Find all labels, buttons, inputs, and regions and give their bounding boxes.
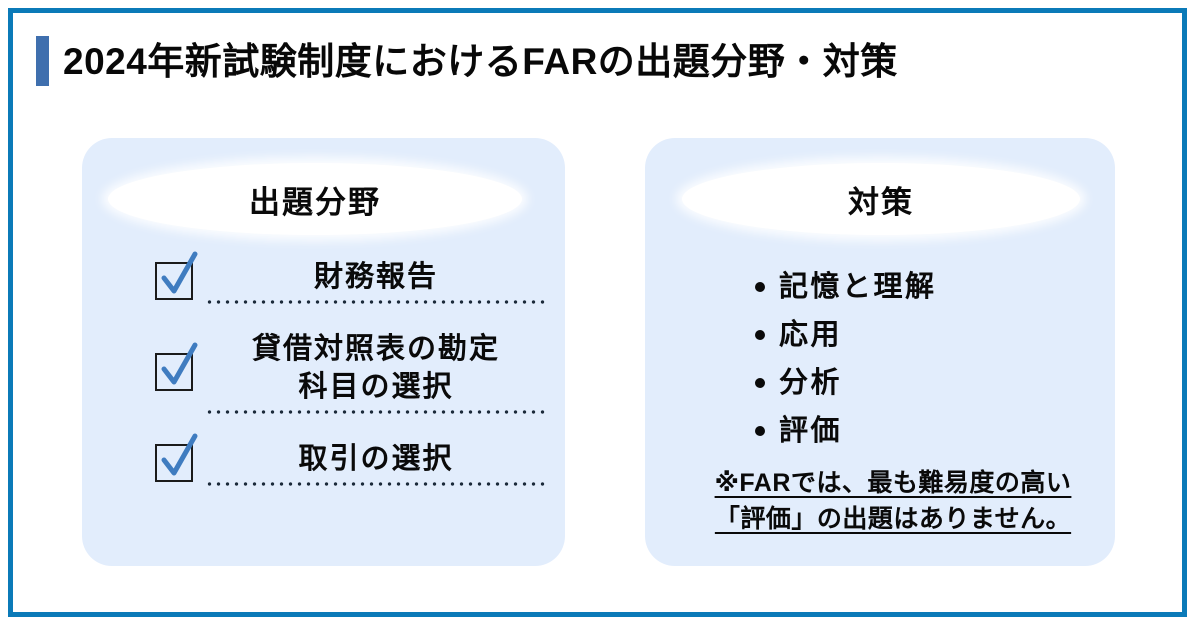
list-item[interactable]: 評価 <box>755 407 937 455</box>
checklist-item-label-line1: 貸借対照表の勘定 <box>252 330 500 368</box>
checkbox-checked-icon[interactable] <box>155 444 193 482</box>
checklist-item[interactable]: 取引の選択 <box>82 432 565 494</box>
measures-bullet-label: 記憶と理解 <box>779 273 937 302</box>
checklist-item-dotted-rule <box>205 410 547 414</box>
checklist-item-label: 財務報告 <box>314 258 438 296</box>
panel-exam-topics-heading: 出題分野 <box>249 177 381 222</box>
bullet-dot-icon <box>755 426 765 436</box>
checklist-item-label-line2: 科目の選択 <box>298 368 453 406</box>
infographic-canvas: 2024年新試験制度におけるFARの出題分野・対策 出題分野 財務報告 <box>0 0 1200 630</box>
list-item[interactable]: 応用 <box>755 311 937 359</box>
bullet-dot-icon <box>755 378 765 388</box>
checklist-item-dotted-rule <box>205 482 547 486</box>
bullet-dot-icon <box>755 282 765 292</box>
checklist-item[interactable]: 貸借対照表の勘定 科目の選択 <box>82 322 565 422</box>
panel-measures: 対策 記憶と理解 応用 分析 評価 ※FARでは、最も難易度の高い 「評価」の出… <box>645 138 1115 566</box>
measures-bullet-list: 記憶と理解 応用 分析 評価 <box>755 263 937 455</box>
measures-bullet-label: 評価 <box>779 417 842 446</box>
bullet-dot-icon <box>755 330 765 340</box>
panel-exam-topics-header: 出題分野 <box>108 163 522 235</box>
checklist-item-body: 財務報告 <box>205 258 547 304</box>
list-item[interactable]: 記憶と理解 <box>755 263 937 311</box>
checklist-item[interactable]: 財務報告 <box>82 250 565 312</box>
checklist-item-dotted-rule <box>205 300 547 304</box>
checkbox-checked-icon[interactable] <box>155 353 193 391</box>
page-title: 2024年新試験制度におけるFARの出題分野・対策 <box>63 43 898 80</box>
measures-bullet-label: 分析 <box>779 369 842 398</box>
checklist-item-label: 取引の選択 <box>298 440 453 478</box>
checklist-item-body: 取引の選択 <box>205 440 547 486</box>
panel-measures-heading: 対策 <box>848 177 914 222</box>
list-item[interactable]: 分析 <box>755 359 937 407</box>
title-accent-bar <box>36 36 49 86</box>
panel-exam-topics: 出題分野 財務報告 <box>82 138 565 566</box>
checklist-item-body: 貸借対照表の勘定 科目の選択 <box>205 330 547 415</box>
exam-topics-checklist: 財務報告 貸借対照表の勘定 科目の選択 <box>82 250 565 504</box>
panel-measures-header: 対策 <box>682 163 1080 235</box>
measures-note-line2: 「評価」の出題はありません。 <box>693 501 1093 537</box>
checkbox-checked-icon[interactable] <box>155 262 193 300</box>
measures-note-line1: ※FARでは、最も難易度の高い <box>693 465 1093 501</box>
measures-note: ※FARでは、最も難易度の高い 「評価」の出題はありません。 <box>693 465 1093 538</box>
page-title-row: 2024年新試験制度におけるFARの出題分野・対策 <box>36 34 898 88</box>
measures-bullet-label: 応用 <box>779 321 842 350</box>
